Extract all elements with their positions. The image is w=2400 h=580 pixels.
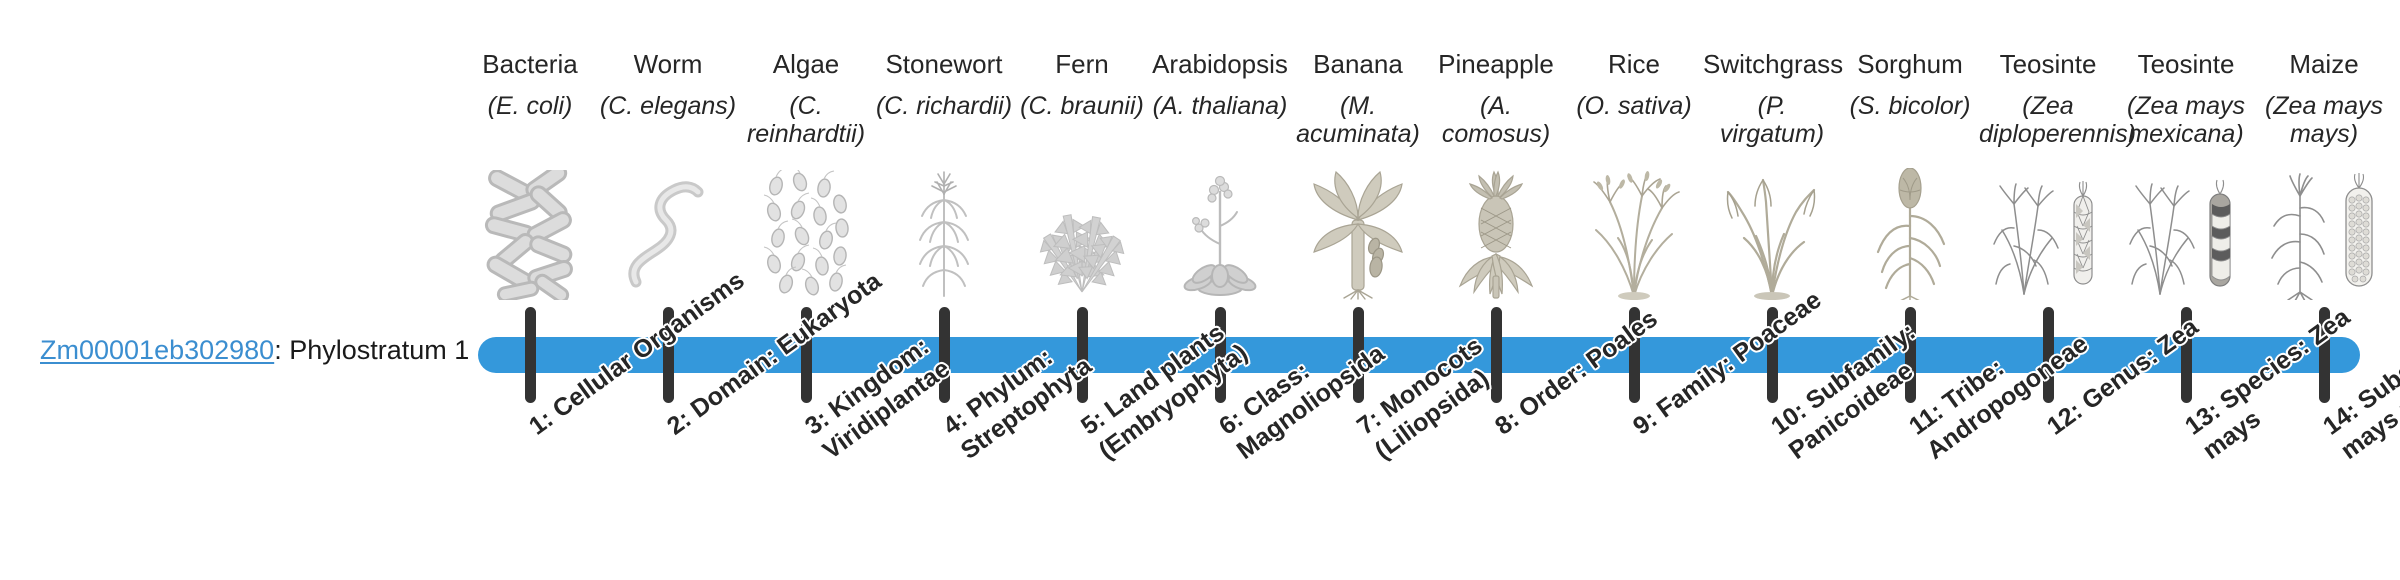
species-column-worm: Worm(C. elegans) xyxy=(599,50,737,154)
species-common-name: Arabidopsis xyxy=(1151,50,1289,82)
gene-phylostratum-label: Zm00001eb302980: Phylostratum 1 xyxy=(40,334,460,366)
species-common-name: Algae xyxy=(737,50,875,82)
species-scientific-name: (S. bicolor) xyxy=(1841,92,1979,154)
species-column-maize: Maize(Zea mays mays) xyxy=(2255,50,2393,154)
species-scientific-name: (Zea diploperennis) xyxy=(1979,92,2117,154)
species-scientific-name: (C. richardii) xyxy=(875,92,1013,154)
species-column-arabidopsis: Arabidopsis(A. thaliana) xyxy=(1151,50,1289,154)
species-column-pineapple: Pineapple(A. comosus) xyxy=(1427,50,1565,154)
species-column-teosinte: Teosinte(Zea mays mexicana) xyxy=(2117,50,2255,154)
species-common-name: Banana xyxy=(1289,50,1427,82)
species-scientific-name: (C. elegans) xyxy=(599,92,737,154)
species-scientific-name: (M. acuminata) xyxy=(1289,92,1427,154)
phylostratum-tick-1[interactable] xyxy=(525,307,536,403)
gene-label-separator: : xyxy=(274,335,289,365)
species-column-fern: Fern(C. braunii) xyxy=(1013,50,1151,154)
species-scientific-name: (C. reinhardtii) xyxy=(737,92,875,154)
species-common-name: Worm xyxy=(599,50,737,82)
species-column-stonewort: Stonewort(C. richardii) xyxy=(875,50,1013,154)
species-common-name: Bacteria xyxy=(461,50,599,82)
species-common-name: Rice xyxy=(1565,50,1703,82)
species-scientific-name: (C. braunii) xyxy=(1013,92,1151,154)
species-column-sorghum: Sorghum(S. bicolor) xyxy=(1841,50,1979,154)
species-scientific-name: (E. coli) xyxy=(461,92,599,154)
species-column-algae: Algae(C. reinhardtii) xyxy=(737,50,875,154)
species-column-teosinte: Teosinte(Zea diploperennis) xyxy=(1979,50,2117,154)
bacteria-icon xyxy=(461,160,599,300)
species-scientific-name: (P. virgatum) xyxy=(1703,92,1841,154)
species-scientific-name: (A. comosus) xyxy=(1427,92,1565,154)
species-scientific-name: (O. sativa) xyxy=(1565,92,1703,154)
species-column-rice: Rice(O. sativa) xyxy=(1565,50,1703,154)
gene-id-link[interactable]: Zm00001eb302980 xyxy=(40,335,274,365)
species-scientific-name: (Zea mays mexicana) xyxy=(2117,92,2255,154)
species-column-switchgrass: Switchgrass(P. virgatum) xyxy=(1703,50,1841,154)
phylostratigraphy-figure: Zm00001eb302980: Phylostratum 1 Bacteria… xyxy=(0,0,2400,580)
species-column-bacteria: Bacteria(E. coli) xyxy=(461,50,599,154)
species-common-name: Sorghum xyxy=(1841,50,1979,82)
gene-phylostratum-value: Phylostratum 1 xyxy=(289,335,469,365)
species-scientific-name: (Zea mays mays) xyxy=(2255,92,2393,154)
species-common-name: Switchgrass xyxy=(1703,50,1841,82)
species-common-name: Fern xyxy=(1013,50,1151,82)
species-common-name: Teosinte xyxy=(1979,50,2117,82)
species-scientific-name: (A. thaliana) xyxy=(1151,92,1289,154)
species-common-name: Pineapple xyxy=(1427,50,1565,82)
species-common-name: Teosinte xyxy=(2117,50,2255,82)
species-common-name: Stonewort xyxy=(875,50,1013,82)
species-common-name: Maize xyxy=(2255,50,2393,82)
species-column-banana: Banana(M. acuminata) xyxy=(1289,50,1427,154)
